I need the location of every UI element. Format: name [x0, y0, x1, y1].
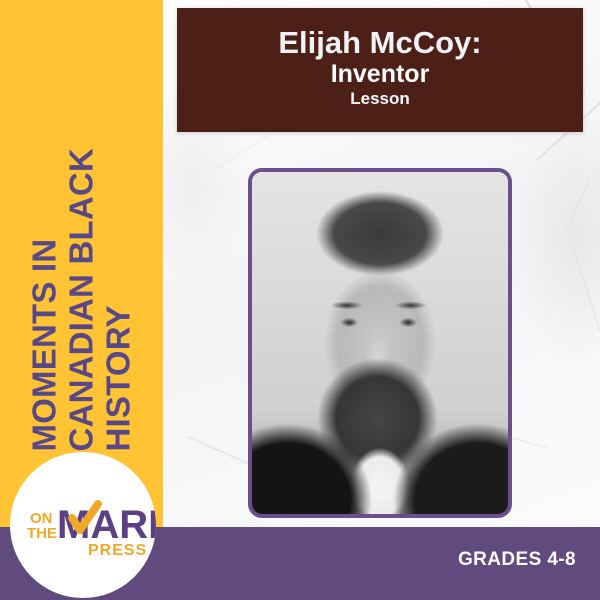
- publisher-logo: ON THE MARK PRESS: [10, 452, 156, 598]
- portrait-grain-overlay: [252, 172, 508, 514]
- series-title-line-2: CANADIAN BLACK: [64, 148, 101, 451]
- on-the-mark-press-logo-icon: ON THE MARK PRESS: [10, 452, 156, 598]
- logo-word-mark: MARK: [57, 503, 156, 547]
- logo-word-press: PRESS: [88, 542, 147, 559]
- grades-label: GRADES 4-8: [458, 549, 576, 571]
- portrait-frame: [248, 168, 512, 518]
- series-title-line-3: HISTORY: [100, 305, 137, 451]
- series-title: MOMENTS IN CANADIAN BLACK HISTORY: [0, 0, 163, 470]
- title-banner: Elijah McCoy: Inventor Lesson: [177, 8, 583, 132]
- page-subtitle: Inventor: [331, 60, 430, 89]
- book-cover: MOMENTS IN CANADIAN BLACK HISTORY Elijah…: [0, 0, 600, 600]
- series-title-rotated-text: MOMENTS IN CANADIAN BLACK HISTORY: [1, 0, 164, 470]
- marble-vein: [572, 248, 600, 353]
- marble-vein: [565, 168, 595, 232]
- series-title-line-1: MOMENTS IN: [27, 239, 64, 452]
- page-kicker: Lesson: [350, 89, 410, 109]
- logo-word-the: THE: [27, 525, 57, 542]
- page-title: Elijah McCoy:: [278, 26, 481, 60]
